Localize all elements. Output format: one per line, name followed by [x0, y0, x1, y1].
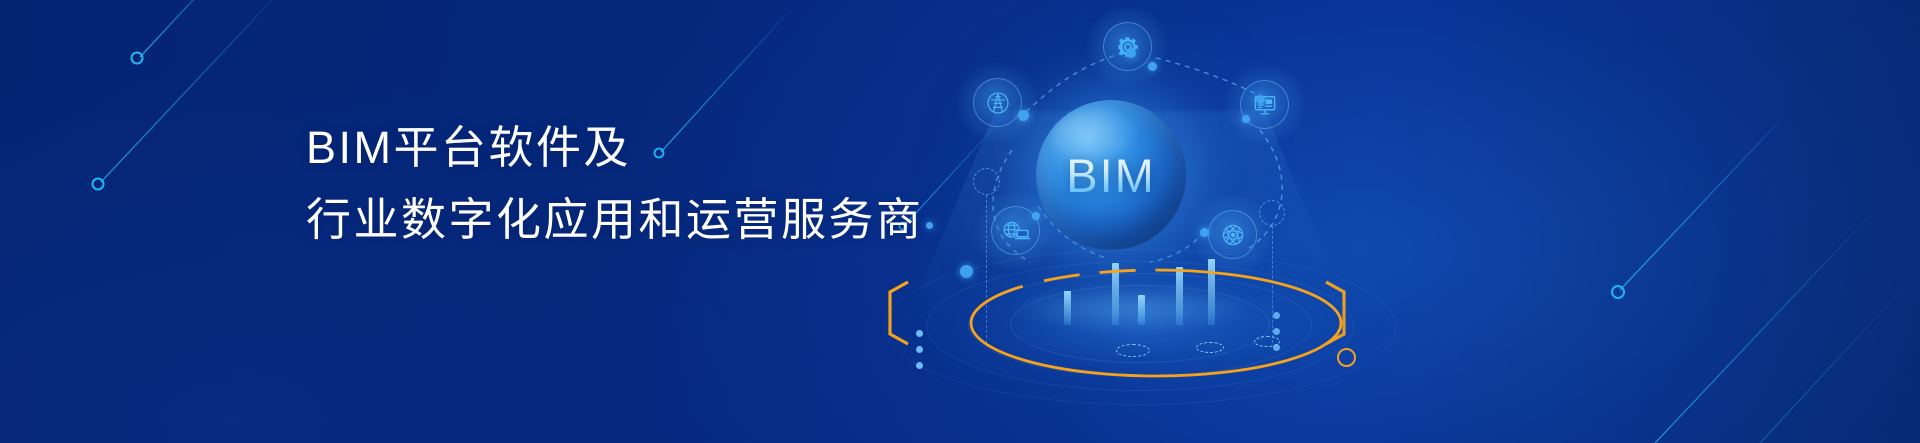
- vignette-overlay: [0, 0, 1920, 443]
- hero-banner: BIM平台软件及 行业数字化应用和运营服务商 BIM: [0, 0, 1920, 443]
